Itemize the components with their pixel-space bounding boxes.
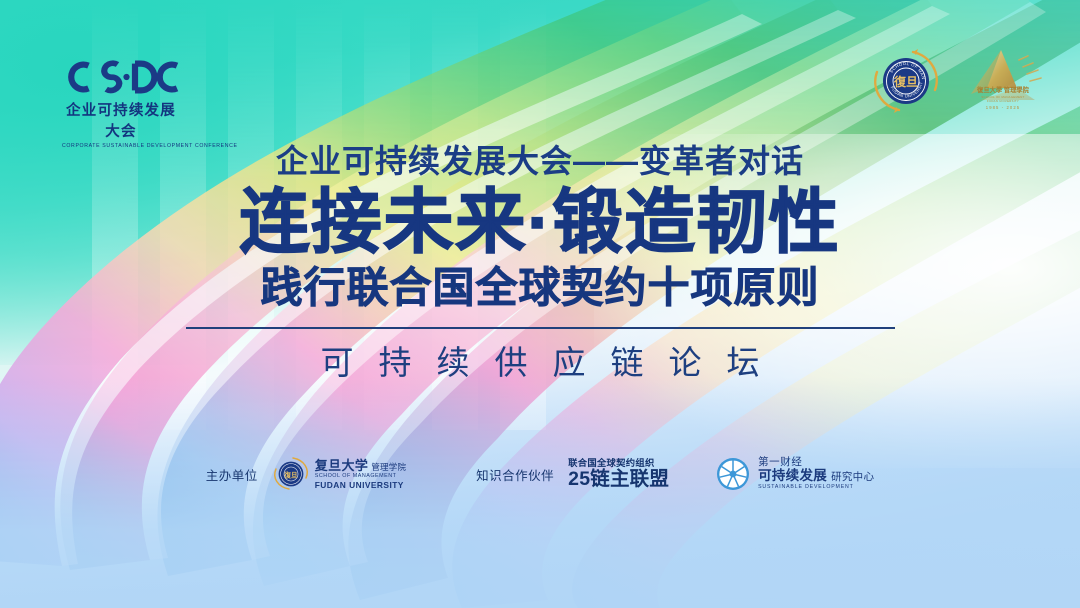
- svg-text:1985 - 2025: 1985 - 2025: [986, 105, 1020, 110]
- partner-row: 主办单位 復旦 复旦大学 管理学院 SCHOOL OF MANAGEMENT: [0, 449, 1080, 499]
- headline-kicker: 企业可持续发展大会——变革者对话: [0, 145, 1080, 177]
- fudan-school-cn: 管理学院: [371, 463, 406, 472]
- anniversary-emblem-icon: 復旦大學 管理學院 SCHOOL OF MANAGEMENT FUDAN UNI…: [957, 44, 1049, 116]
- fudan-som-seal-icon: 復旦: [272, 455, 310, 493]
- headline-forum: 可持续供应链论坛: [0, 346, 1080, 379]
- fudan-name-en-2: FUDAN UNIVERSITY: [315, 481, 406, 490]
- yicai-sustainability-logo: 第一财经 可持续发展 研究中心 SUSTAINABLE DEVELOPMENT: [715, 456, 874, 492]
- headline-main: 连接未来·锻造韧性: [0, 187, 1080, 257]
- conference-poster: 企业可持续发展大会 CORPORATE SUSTAINABLE DEVELOPM…: [0, 0, 1080, 608]
- knowledge-partner-caption: 知识合作伙伴: [476, 465, 554, 484]
- knowledge-partner-group: 知识合作伙伴 联合国全球契约组织 25链主联盟: [476, 456, 874, 492]
- csdc-wordmark-icon: [60, 57, 182, 97]
- headline-divider: [186, 327, 895, 329]
- ungc-alliance-name: 25链主联盟: [568, 470, 669, 490]
- fudan-som-seal-icon: 復旦 SCHOOL OF MANAGEMENT FUDAN UNIVERSITY: [869, 46, 943, 116]
- yicai-center-suffix: 研究中心: [831, 472, 874, 483]
- headline-block: 企业可持续发展大会——变革者对话 连接未来·锻造韧性 践行联合国全球契约十项原则…: [0, 145, 1080, 379]
- svg-text:FUDAN UNIVERSITY: FUDAN UNIVERSITY: [987, 99, 1019, 103]
- headline-sub: 践行联合国全球契约十项原则: [0, 267, 1080, 309]
- fudan-som-logo: 復旦 复旦大学 管理学院 SCHOOL OF MANAGEMENT FUDAN …: [272, 455, 406, 493]
- yicai-name-en: SUSTAINABLE DEVELOPMENT: [758, 485, 874, 491]
- svg-text:復旦: 復旦: [893, 74, 918, 89]
- yicai-center-name: 可持续发展: [758, 469, 827, 484]
- organizer-group: 主办单位 復旦 复旦大学 管理学院 SCHOOL OF MANAGEMENT: [206, 455, 406, 493]
- fudan-name-en-1: SCHOOL OF MANAGEMENT: [315, 474, 406, 480]
- svg-text:復旦: 復旦: [283, 470, 298, 479]
- organizer-caption: 主办单位: [206, 465, 258, 484]
- svg-text:復旦大學 管理學院: 復旦大學 管理學院: [976, 85, 1030, 94]
- ungc-org-name: 联合国全球契约组织: [568, 459, 669, 468]
- ungc-alliance-logo: 联合国全球契约组织 25链主联盟: [568, 459, 669, 490]
- yicai-org-name: 第一财经: [758, 457, 874, 468]
- csdc-brand-logo: 企业可持续发展大会 CORPORATE SUSTAINABLE DEVELOPM…: [60, 57, 240, 149]
- fudan-name-cn: 复旦大学: [315, 459, 369, 473]
- csdc-name-cn: 企业可持续发展大会: [62, 99, 180, 141]
- aperture-icon: [715, 456, 751, 492]
